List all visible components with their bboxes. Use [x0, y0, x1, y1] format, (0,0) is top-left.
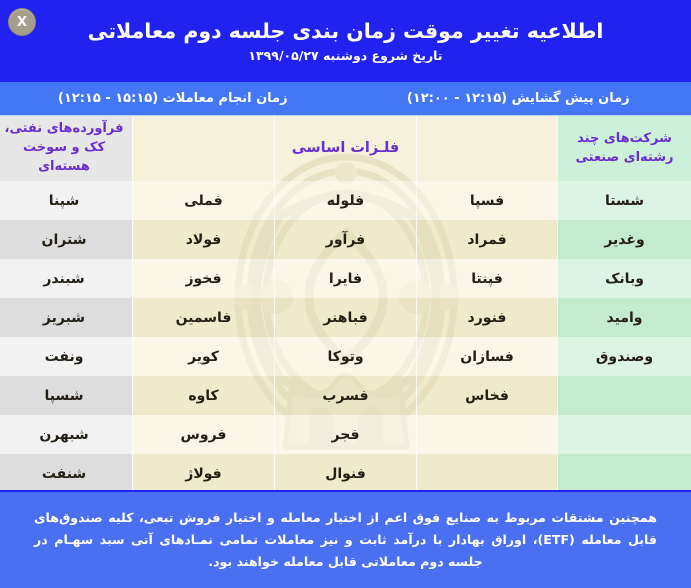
- symbol-cell[interactable]: وامید: [558, 298, 691, 337]
- symbol-cell[interactable]: فپنتا: [417, 259, 557, 298]
- column-header-basic-metals: فلـزات اساسی: [275, 116, 416, 181]
- column-header-petroleum-products: فرآورده‌های نفتی، کک و سوخت هسته‌ای: [0, 116, 132, 181]
- poster-footer: همچنین مشتقات مربوط به صنایع فوق اعم از …: [0, 490, 691, 588]
- page-title: اطلاعیه تغییر موقت زمان بندی جلسه دوم مع…: [88, 19, 604, 46]
- symbol-cell[interactable]: فاسمین: [133, 298, 274, 337]
- column-header-multi-industry: شرکت‌های چند رشته‌ای صنعتی: [558, 116, 691, 181]
- symbol-cell[interactable]: فخوز: [133, 259, 274, 298]
- symbol-cell[interactable]: فخاس: [417, 376, 557, 415]
- symbol-cell: [417, 454, 557, 490]
- symbol-cell[interactable]: فولاژ: [133, 454, 274, 490]
- symbol-cell[interactable]: فلوله: [275, 181, 416, 220]
- column-multi-industry: شرکت‌های چند رشته‌ای صنعتی شستا وغدیر وب…: [557, 116, 691, 490]
- symbol-cell[interactable]: کاوه: [133, 376, 274, 415]
- symbol-cell[interactable]: شبریز: [0, 298, 132, 337]
- symbol-cell[interactable]: فسرب: [275, 376, 416, 415]
- announcement-poster: X اطلاعیه تغییر موقت زمان بندی جلسه دوم …: [0, 0, 691, 588]
- poster-header: X اطلاعیه تغییر موقت زمان بندی جلسه دوم …: [0, 0, 691, 82]
- symbol-cell[interactable]: وبانک: [558, 259, 691, 298]
- symbol-cell[interactable]: شپنا: [0, 181, 132, 220]
- symbol-cell[interactable]: ونفت: [0, 337, 132, 376]
- session-times-band: زمان پیش گشایش (۱۲:۱۵ - ۱۲:۰۰) زمان انجا…: [0, 82, 691, 116]
- symbol-cell[interactable]: فجر: [275, 415, 416, 454]
- symbol-cell: [417, 415, 557, 454]
- cells-basic-metals: فلوله فرآور فایرا فباهنر وتوکا فسرب فجر …: [275, 181, 416, 490]
- column-header-metals-a: [133, 116, 274, 181]
- cells-petroleum-products: شپنا شتران شبندر شبریز ونفت شسپا شبهرن ش…: [0, 181, 132, 490]
- trading-time-label: زمان انجام معاملات (۱۵:۱۵ - ۱۲:۱۵): [0, 92, 346, 105]
- symbol-cell[interactable]: فروس: [133, 415, 274, 454]
- cells-metals-a: فملی فولاد فخوز فاسمین کویر کاوه فروس فو…: [133, 181, 274, 490]
- symbol-cell: [558, 376, 691, 415]
- symbol-cell[interactable]: فمراد: [417, 220, 557, 259]
- column-basic-metals: فلـزات اساسی فلوله فرآور فایرا فباهنر وت…: [274, 116, 416, 490]
- column-header-metals-b: [417, 116, 557, 181]
- column-metals-b: فسپا فمراد فپنتا فنورد فسازان فخاس: [416, 116, 557, 490]
- symbol-cell[interactable]: فباهنر: [275, 298, 416, 337]
- symbol-cell[interactable]: فسازان: [417, 337, 557, 376]
- symbol-cell: [558, 415, 691, 454]
- symbol-cell[interactable]: شستا: [558, 181, 691, 220]
- symbol-cell[interactable]: فایرا: [275, 259, 416, 298]
- column-metals-a: فملی فولاد فخوز فاسمین کویر کاوه فروس فو…: [132, 116, 274, 490]
- symbol-cell[interactable]: فرآور: [275, 220, 416, 259]
- symbol-cell[interactable]: فسپا: [417, 181, 557, 220]
- cells-multi-industry: شستا وغدیر وبانک وامید وصندوق: [558, 181, 691, 490]
- symbol-cell[interactable]: فنوال: [275, 454, 416, 490]
- footer-note: همچنین مشتقات مربوط به صنایع فوق اعم از …: [0, 507, 691, 573]
- symbol-cell[interactable]: شنفت: [0, 454, 132, 490]
- symbol-cell[interactable]: شبهرن: [0, 415, 132, 454]
- symbol-cell[interactable]: فولاد: [133, 220, 274, 259]
- symbol-cell: [558, 454, 691, 490]
- symbol-cell[interactable]: شبندر: [0, 259, 132, 298]
- symbols-table: شرکت‌های چند رشته‌ای صنعتی شستا وغدیر وب…: [0, 116, 691, 490]
- close-icon[interactable]: X: [8, 8, 36, 36]
- symbol-cell[interactable]: فنورد: [417, 298, 557, 337]
- symbol-cell[interactable]: شسپا: [0, 376, 132, 415]
- symbol-cell[interactable]: کویر: [133, 337, 274, 376]
- cells-metals-b: فسپا فمراد فپنتا فنورد فسازان فخاس: [417, 181, 557, 490]
- symbol-cell[interactable]: شتران: [0, 220, 132, 259]
- symbol-cell[interactable]: وصندوق: [558, 337, 691, 376]
- symbol-cell[interactable]: وتوکا: [275, 337, 416, 376]
- pre-opening-time-label: زمان پیش گشایش (۱۲:۱۵ - ۱۲:۰۰): [346, 92, 691, 105]
- start-date-label: تاریخ شروع دوشنبه ۱۳۹۹/۰۵/۲۷: [248, 48, 442, 63]
- symbol-cell[interactable]: فملی: [133, 181, 274, 220]
- column-petroleum-products: فرآورده‌های نفتی، کک و سوخت هسته‌ای شپنا…: [0, 116, 132, 490]
- symbol-cell[interactable]: وغدیر: [558, 220, 691, 259]
